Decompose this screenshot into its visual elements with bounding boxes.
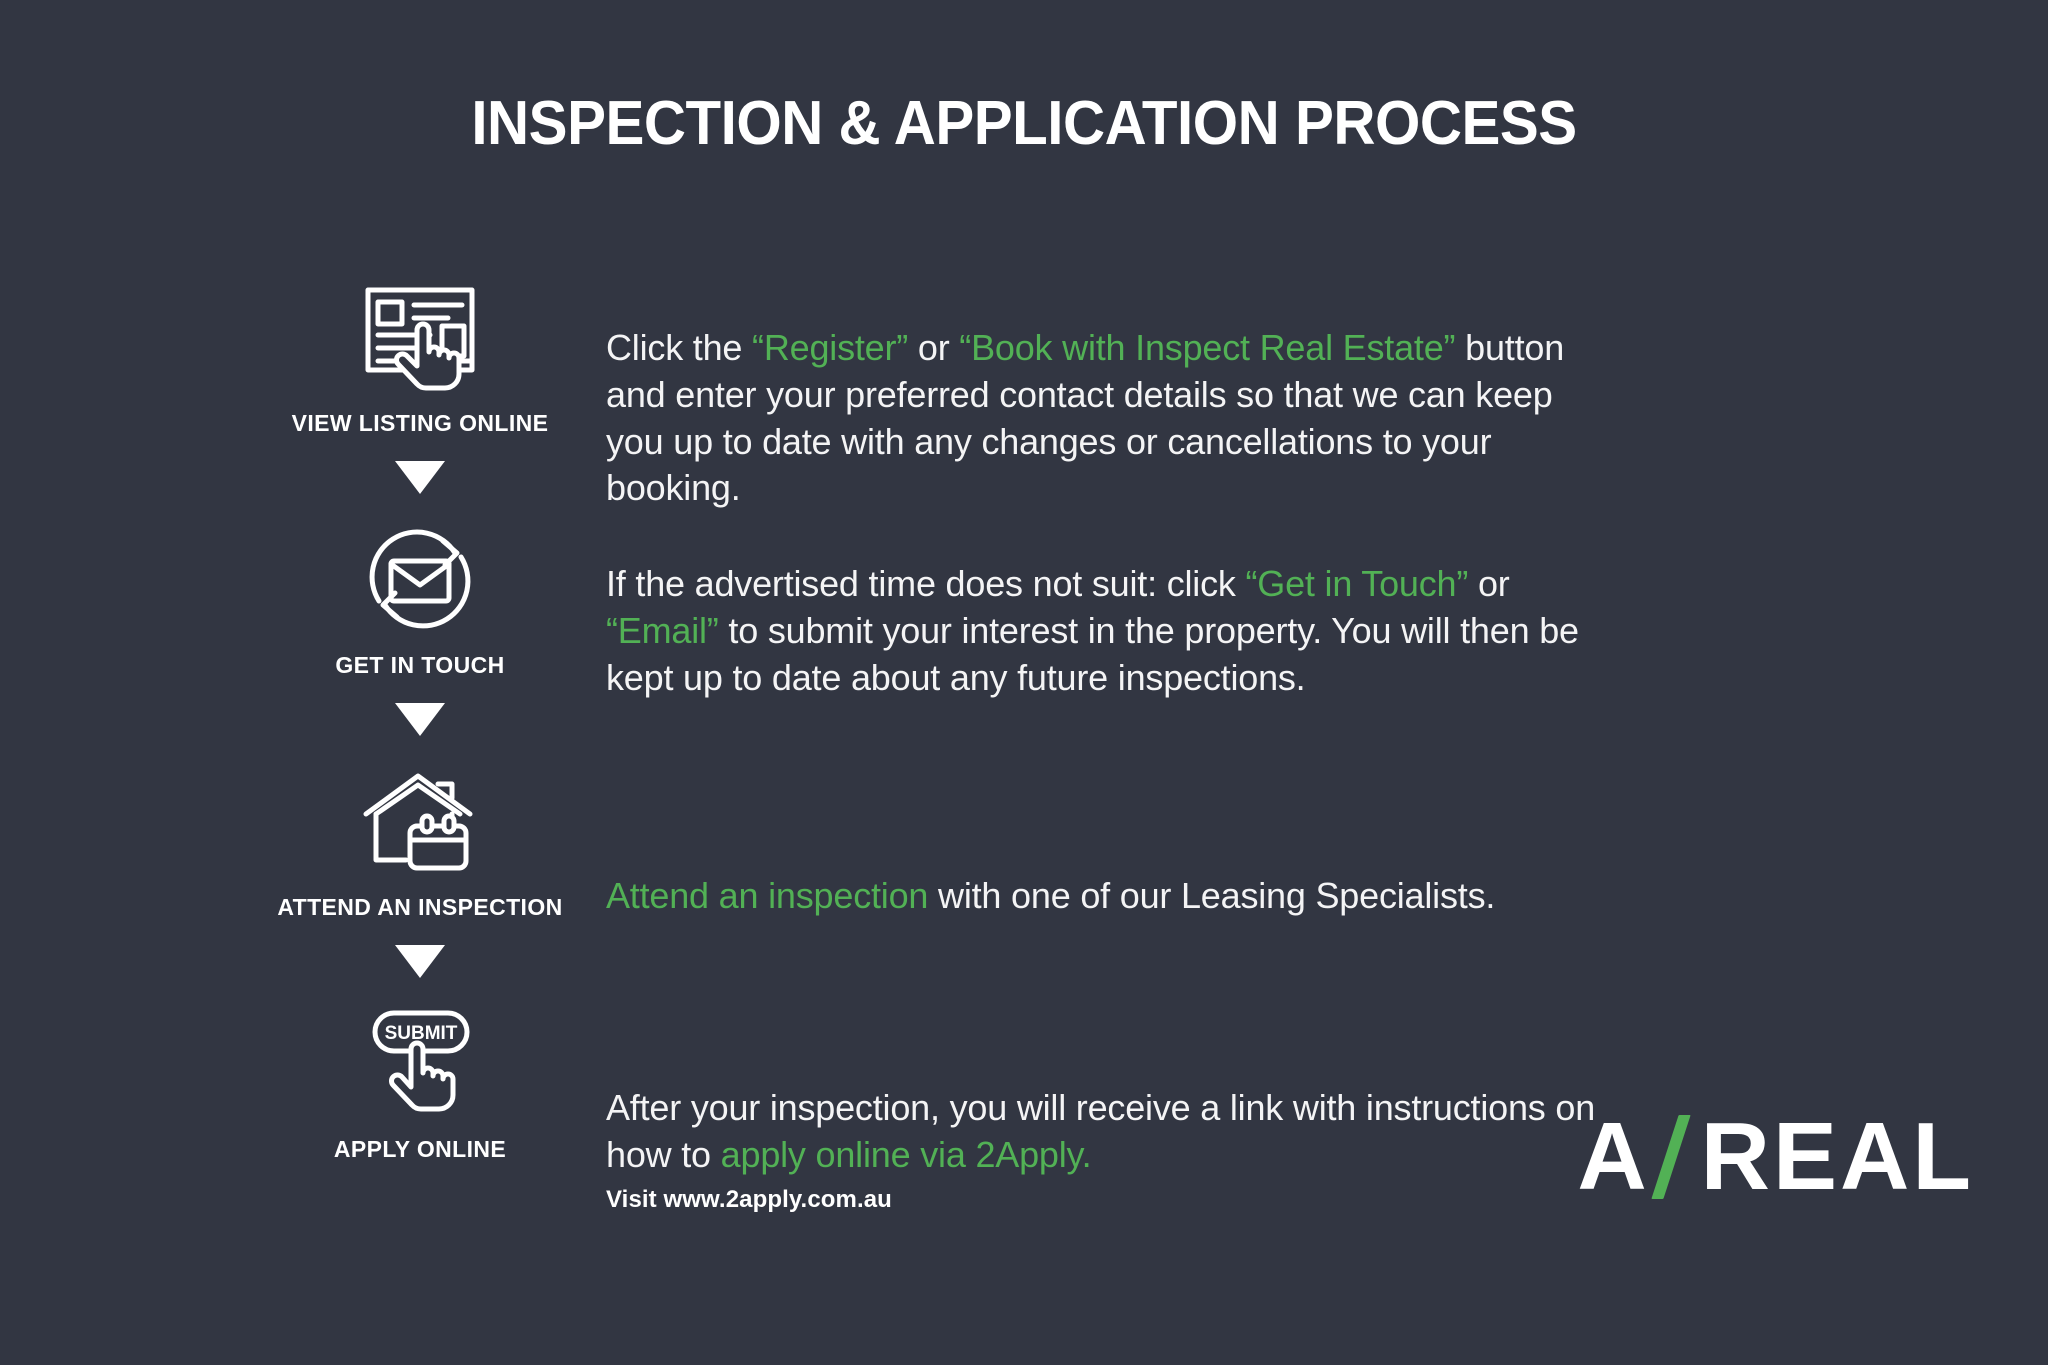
- page-title: INSPECTION & APPLICATION PROCESS: [61, 88, 1986, 159]
- step-label-get-in-touch: GET IN TOUCH: [335, 652, 504, 679]
- highlighted-text-run: “Register”: [752, 327, 908, 368]
- connector-1: [270, 461, 570, 494]
- down-triangle-icon: [395, 461, 445, 494]
- submit-button-pointer-icon: SUBMIT: [350, 1004, 490, 1122]
- step-label-view-listing-online: VIEW LISTING ONLINE: [292, 410, 549, 437]
- down-triangle-icon: [395, 945, 445, 978]
- text-run: or: [1468, 563, 1509, 604]
- process-flow-column: VIEW LISTING ONLINE GET IN TOUCH: [270, 278, 570, 1163]
- envelope-refresh-icon: [350, 520, 490, 638]
- highlighted-text-run: “Get in Touch”: [1246, 563, 1469, 604]
- step-label-apply-online: APPLY ONLINE: [334, 1136, 506, 1163]
- connector-3: [270, 945, 570, 978]
- step-view-listing-online: VIEW LISTING ONLINE: [270, 278, 570, 437]
- logo-slash-icon: [1651, 1115, 1690, 1199]
- highlighted-text-run: Attend an inspection: [606, 875, 928, 916]
- step-attend-an-inspection: ATTEND AN INSPECTION: [270, 762, 570, 921]
- body-paragraph-4: After your inspection, you will receive …: [606, 1085, 1616, 1179]
- logo-word-real: REAL: [1701, 1109, 1974, 1205]
- body-paragraph-2: If the advertised time does not suit: cl…: [606, 561, 1616, 701]
- step-get-in-touch: GET IN TOUCH: [270, 520, 570, 679]
- body-paragraph-1: Click the “Register” or “Book with Inspe…: [606, 325, 1616, 512]
- text-run: with one of our Leasing Specialists.: [928, 875, 1495, 916]
- connector-2: [270, 703, 570, 736]
- svg-text:SUBMIT: SUBMIT: [385, 1023, 458, 1044]
- highlighted-text-run: “Email”: [606, 610, 719, 651]
- highlighted-text-run: apply online via 2Apply.: [721, 1134, 1092, 1175]
- text-run: If the advertised time does not suit: cl…: [606, 563, 1246, 604]
- text-run: to submit your interest in the property.…: [606, 610, 1579, 698]
- text-run: or: [908, 327, 959, 368]
- highlighted-text-run: “Book with Inspect Real Estate”: [959, 327, 1455, 368]
- text-run: Click the: [606, 327, 752, 368]
- visit-website-text: Visit www.2apply.com.au: [606, 1186, 892, 1214]
- step-apply-online: SUBMIT APPLY ONLINE: [270, 1004, 570, 1163]
- logo-letter-a: A: [1577, 1109, 1648, 1205]
- house-calendar-icon: [350, 762, 490, 880]
- down-triangle-icon: [395, 703, 445, 736]
- poster-canvas: INSPECTION & APPLICATION PROCESS: [0, 0, 2048, 1365]
- step-label-attend-an-inspection: ATTEND AN INSPECTION: [277, 894, 562, 921]
- body-paragraph-3: Attend an inspection with one of our Lea…: [606, 873, 1495, 920]
- listing-page-with-pointer-icon: [350, 278, 490, 396]
- areal-logo: A REAL: [1577, 1109, 1974, 1205]
